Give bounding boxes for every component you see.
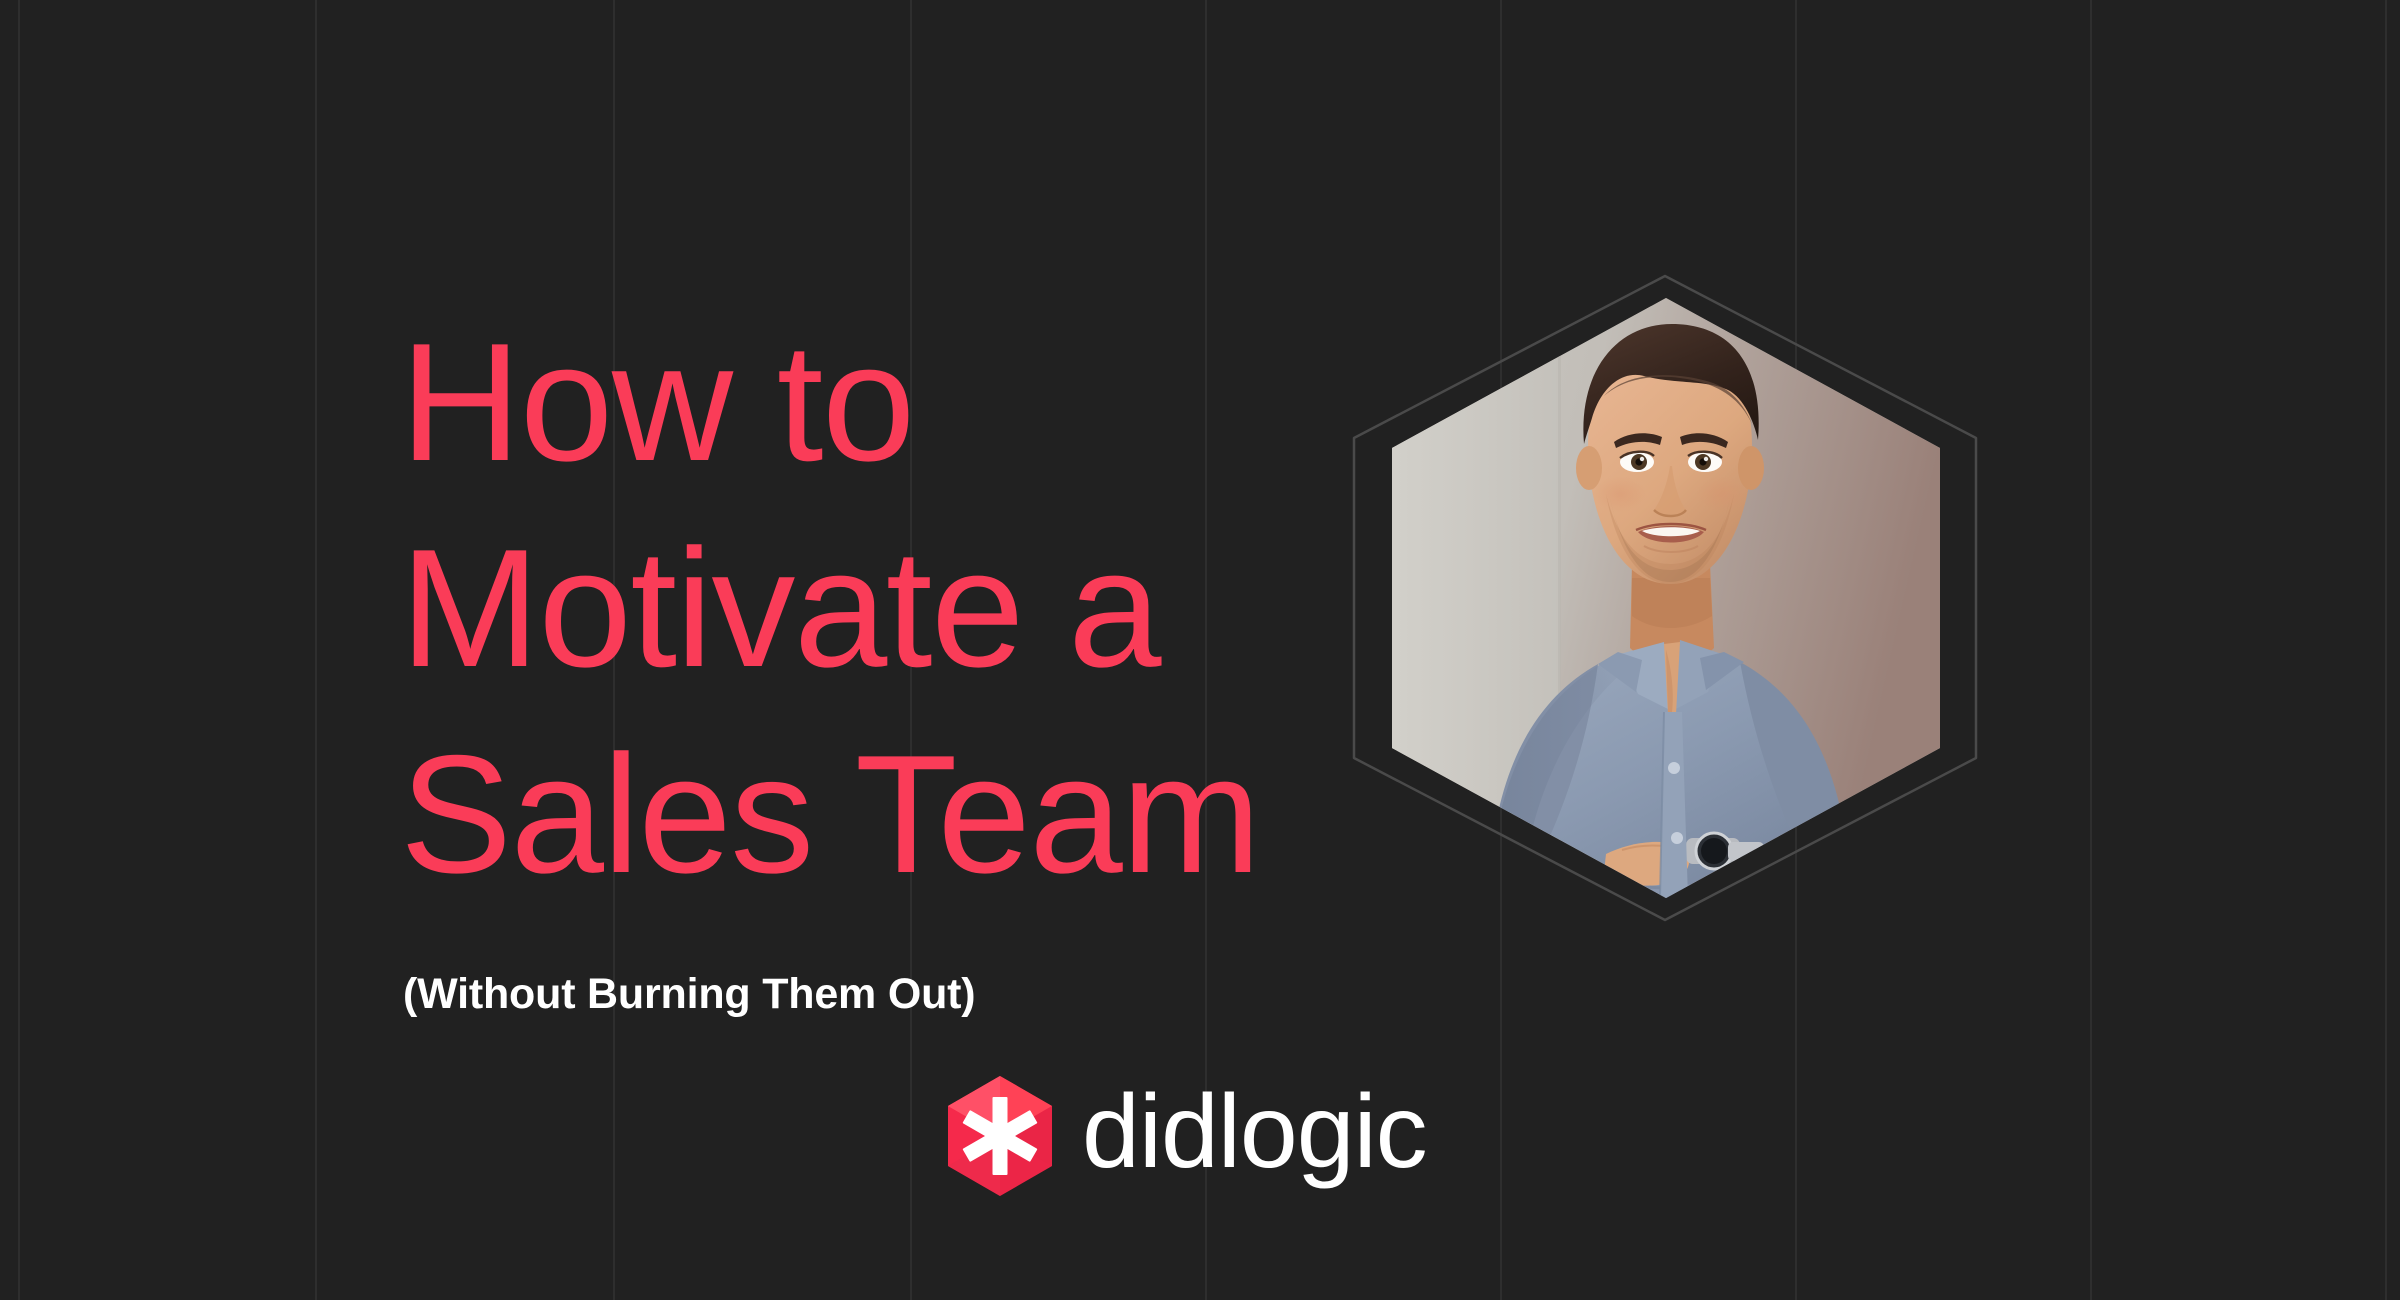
portrait-hexagon [1340,268,1990,928]
page-title: How to Motivate a Sales Team [400,300,1340,917]
brand-logo: didlogic [948,1076,1427,1196]
gridline [315,0,317,1300]
gridline [18,0,20,1300]
text-block: How to Motivate a Sales Team (Without Bu… [400,300,1340,1021]
gridline [2385,0,2387,1300]
page-subtitle: (Without Burning Them Out) [400,917,1340,1021]
brand-wordmark: didlogic [1082,1080,1427,1192]
social-card-canvas: How to Motivate a Sales Team (Without Bu… [0,0,2400,1300]
didlogic-hexagon-asterisk-icon [948,1076,1052,1196]
gridline [2090,0,2092,1300]
